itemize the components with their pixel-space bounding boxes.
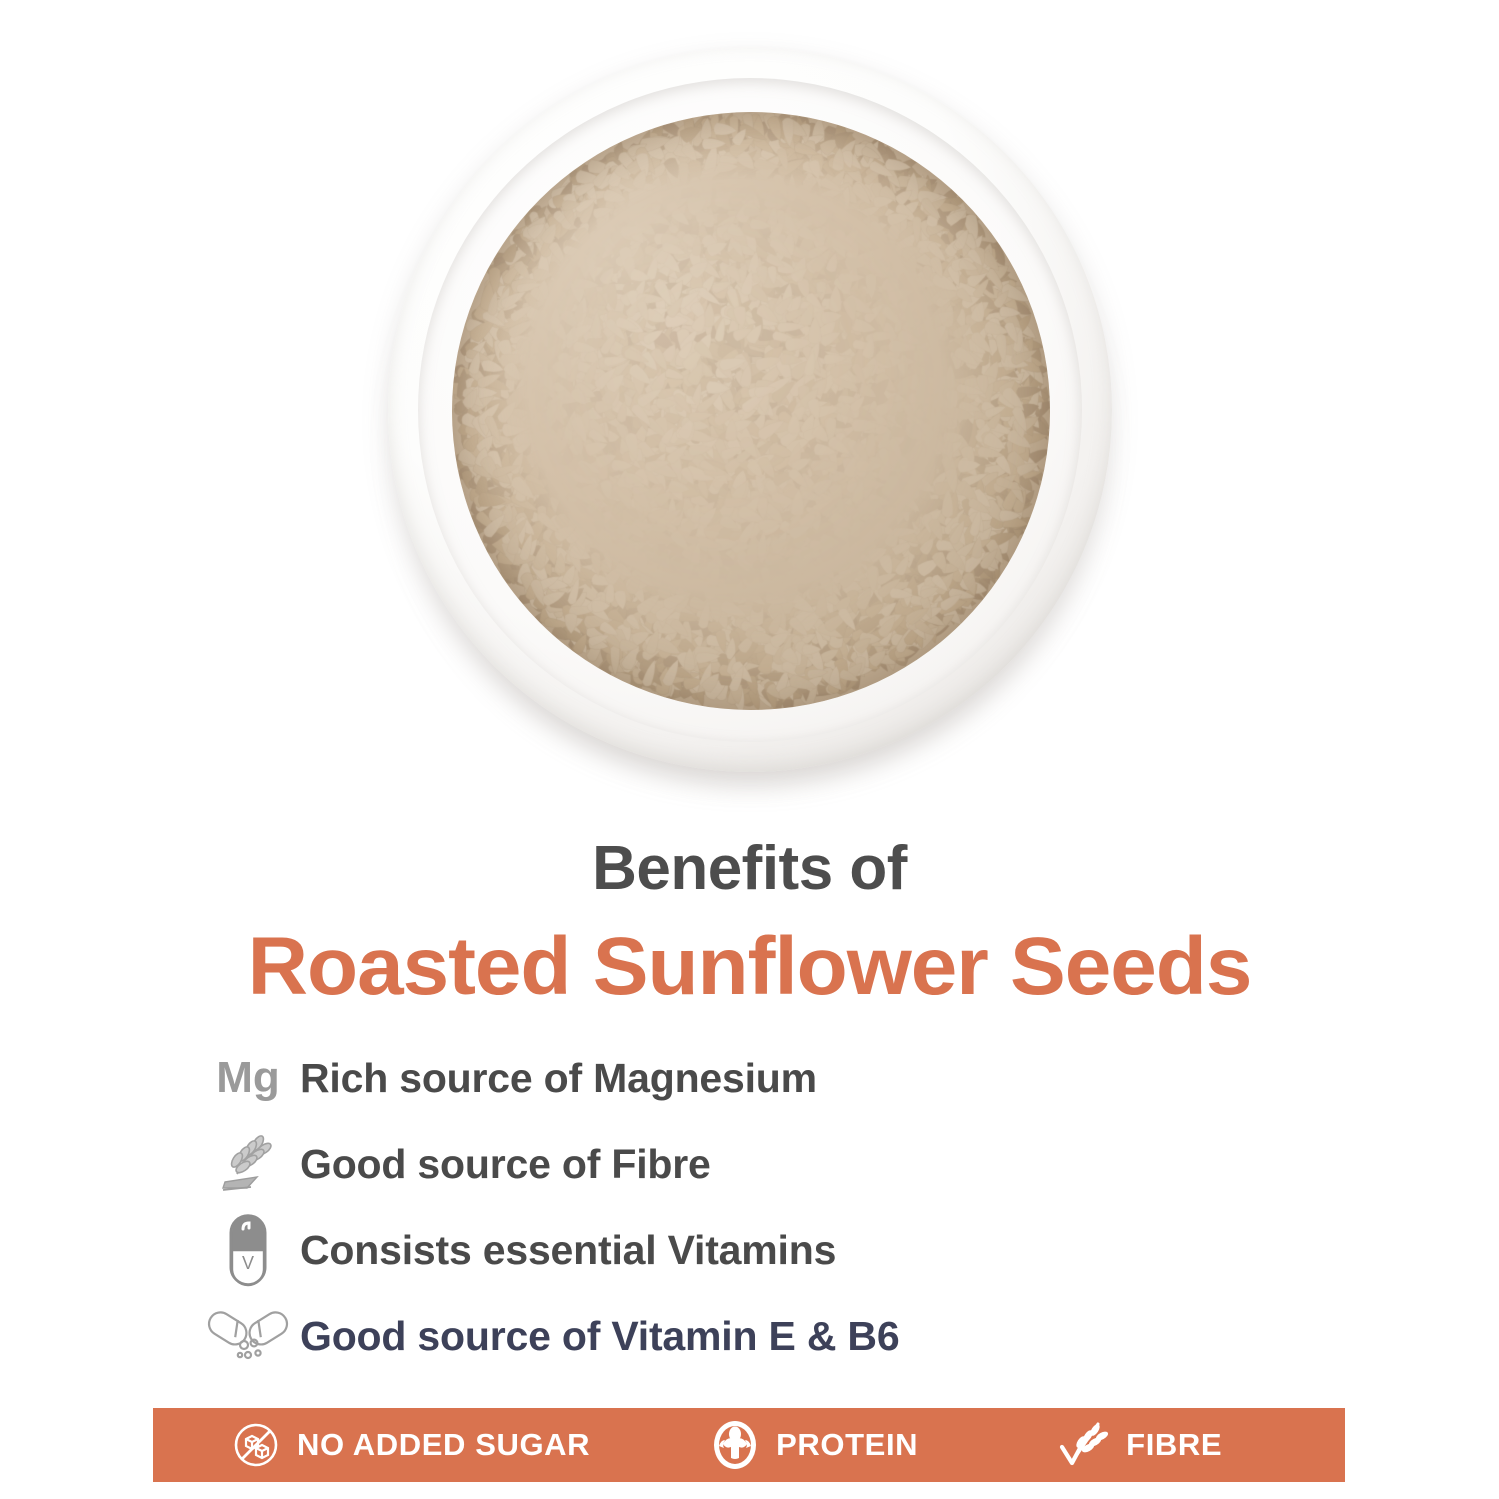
benefits-list: Mg Rich source of Magnesium	[196, 1035, 1346, 1379]
claims-banner: NO ADDED SUGAR PROTEIN	[153, 1408, 1345, 1482]
claim-protein: PROTEIN	[708, 1408, 918, 1482]
infographic-page: Benefits of Roasted Sunflower Seeds Mg R…	[0, 0, 1499, 1499]
vitamin-capsule-icon: V	[196, 1211, 300, 1289]
magnesium-symbol-icon: Mg	[196, 1039, 300, 1117]
svg-text:V: V	[242, 1253, 254, 1273]
claim-label: NO ADDED SUGAR	[297, 1427, 590, 1463]
sunflower-seed-bowl	[370, 38, 1130, 798]
benefit-label: Rich source of Magnesium	[300, 1055, 817, 1102]
protein-muscle-icon	[708, 1418, 762, 1472]
hero-product-photo	[0, 0, 1499, 820]
open-capsules-granules-icon	[196, 1297, 300, 1375]
heading-eyebrow: Benefits of	[0, 833, 1499, 904]
claim-label: PROTEIN	[776, 1427, 918, 1463]
seed-fill	[452, 112, 1050, 710]
benefit-item-magnesium: Mg Rich source of Magnesium	[196, 1035, 1346, 1121]
claim-no-added-sugar: NO ADDED SUGAR	[229, 1408, 590, 1482]
page-title: Roasted Sunflower Seeds	[0, 920, 1499, 1014]
benefit-item-vitamins: V Consists essential Vitamins	[196, 1207, 1346, 1293]
magnesium-symbol-text: Mg	[216, 1053, 280, 1103]
benefit-label: Consists essential Vitamins	[300, 1227, 836, 1274]
no-added-sugar-icon	[229, 1418, 283, 1472]
benefit-item-fibre: Good source of Fibre	[196, 1121, 1346, 1207]
benefit-item-vitamin-e-b6: Good source of Vitamin E & B6	[196, 1293, 1346, 1379]
benefit-label: Good source of Vitamin E & B6	[300, 1313, 899, 1360]
claim-fibre: FIBRE	[1058, 1408, 1222, 1482]
benefit-label: Good source of Fibre	[300, 1141, 711, 1188]
fibre-wheat-check-icon	[1058, 1418, 1112, 1472]
claim-label: FIBRE	[1126, 1427, 1222, 1463]
wheat-stalk-icon	[196, 1125, 300, 1203]
